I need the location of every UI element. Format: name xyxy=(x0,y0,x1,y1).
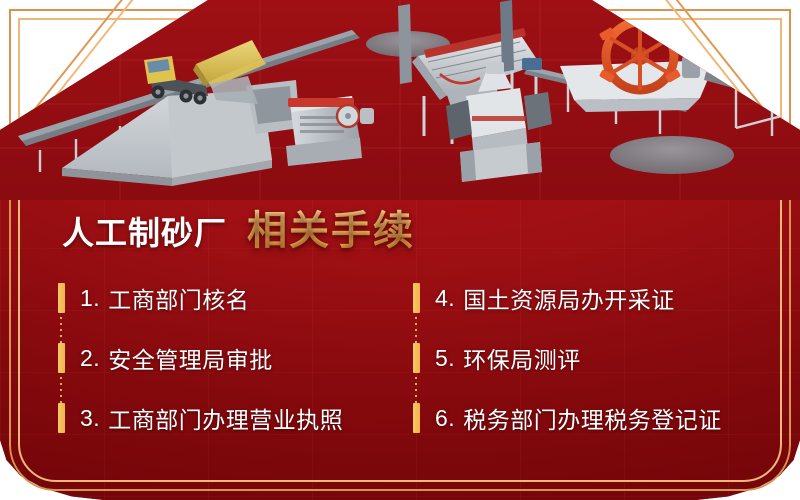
list-item-label: 工商部门办理营业执照 xyxy=(108,401,343,435)
list-item[interactable]: 5. 环保局测评 xyxy=(413,328,758,388)
screen-tower-left xyxy=(398,4,412,84)
list-item-number: 4. xyxy=(435,285,455,312)
list-item-label: 安全管理局审批 xyxy=(108,341,273,375)
list-item[interactable]: 4. 国土资源局办开采证 xyxy=(413,268,758,328)
list-item-label: 国土资源局办开采证 xyxy=(463,281,675,315)
bullet-marker-icon xyxy=(58,403,65,433)
list-item[interactable]: 6. 税务部门办理税务登记证 xyxy=(413,388,758,448)
list-item-label: 环保局测评 xyxy=(463,341,581,375)
list-item-number: 6. xyxy=(435,405,455,432)
list-item-label: 税务部门办理税务登记证 xyxy=(463,401,722,435)
banner-stage: 人工制砂厂 相关手续 1. 工商部门核名 4. 国土资源局办开采证 2. 安全管… xyxy=(0,0,800,500)
ground-plane xyxy=(0,0,800,200)
production-line-illustration xyxy=(0,0,800,200)
bullet-marker-icon xyxy=(413,343,420,373)
bullet-marker-icon xyxy=(58,283,65,313)
list-item-number: 5. xyxy=(435,345,455,372)
list-item-number: 3. xyxy=(80,405,100,432)
bullet-marker-icon xyxy=(413,403,420,433)
list-item-label: 工商部门核名 xyxy=(108,281,249,315)
banner-headline: 人工制砂厂 相关手续 xyxy=(62,198,415,256)
bullet-marker-icon xyxy=(413,283,420,313)
headline-lead: 人工制砂厂 xyxy=(62,208,227,254)
list-item[interactable]: 1. 工商部门核名 xyxy=(58,268,413,328)
screen-tower-right xyxy=(500,0,514,72)
list-item[interactable]: 3. 工商部门办理营业执照 xyxy=(58,388,413,448)
headline-emphasis: 相关手续 xyxy=(247,198,415,256)
list-item[interactable]: 2. 安全管理局审批 xyxy=(58,328,413,388)
bullet-marker-icon xyxy=(58,343,65,373)
procedure-list: 1. 工商部门核名 4. 国土资源局办开采证 2. 安全管理局审批 5. 环保局… xyxy=(58,268,758,448)
list-item-number: 1. xyxy=(80,285,100,312)
gravel-pile-right xyxy=(610,136,734,174)
list-item-number: 2. xyxy=(80,345,100,372)
